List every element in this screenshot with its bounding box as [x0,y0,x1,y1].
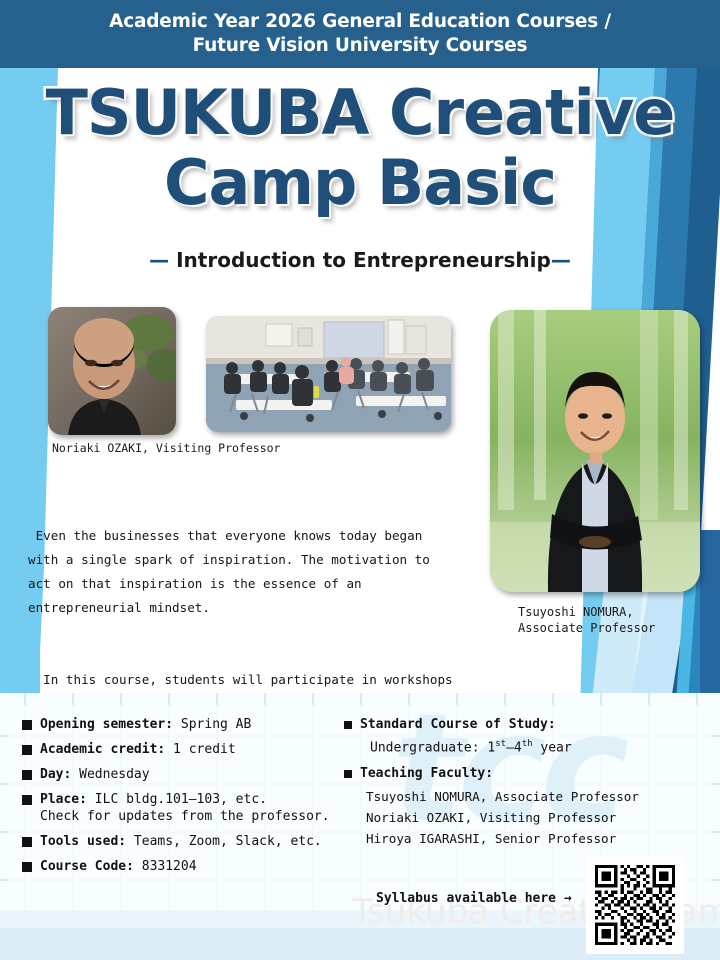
faculty-member: Noriaki OZAKI, Visiting Professor [366,807,694,828]
square-bullet-icon [22,770,32,780]
detail-text: Opening semester: Spring AB [40,716,251,733]
classroom-workshop-image [206,316,451,432]
detail-value: Teams, Zoom, Slack, etc. [126,834,322,849]
detail-text: Place: ILC bldg.101–103, etc. Check for … [40,791,330,825]
header-banner: Academic Year 2026 General Education Cou… [0,0,720,68]
square-bullet-icon [22,795,32,805]
poster-root: Academic Year 2026 General Education Cou… [0,0,720,960]
square-bullet-icon [344,721,352,729]
subtitle-dash-left: — [149,248,176,272]
faculty-member: Tsuyoshi NOMURA, Associate Professor [366,786,694,807]
detail-text: Course Code: 8331204 [40,858,197,875]
details-left-column: Opening semester: Spring AB Academic cre… [22,716,352,883]
portrait-ozaki-image [48,307,176,435]
caption-ozaki: Noriaki OZAKI, Visiting Professor [52,441,280,456]
title-line-2: Camp Basic [0,148,720,218]
detail-tools-used: Tools used: Teams, Zoom, Slack, etc. [22,833,352,850]
fan-stripe-6 [700,530,720,695]
detail-label: Opening semester: [40,717,173,732]
square-bullet-icon [22,720,32,730]
photo-nomura [490,310,700,592]
photo-classroom [206,316,451,432]
detail-label: Academic credit: [40,742,165,757]
detail-value: 1 credit [165,742,235,757]
caption-nomura: Tsuyoshi NOMURA, Associate Professor [518,604,655,636]
square-bullet-icon [22,745,32,755]
details-right-column: Standard Course of Study: Undergraduate:… [344,716,694,849]
square-bullet-icon [22,837,32,847]
detail-label: Day: [40,767,71,782]
detail-standard-course-of-study: Standard Course of Study: [344,716,694,733]
qr-code-image [595,865,675,945]
ordinal-th: th [522,739,533,749]
detail-label: Course Code: [40,859,134,874]
title-line-1: TSUKUBA Creative [0,78,720,148]
detail-text: Teaching Faculty: [360,765,493,782]
detail-text: Tools used: Teams, Zoom, Slack, etc. [40,833,322,850]
detail-course-code: Course Code: 8331204 [22,858,352,875]
undergraduate-prefix: Undergraduate: 1 [370,740,495,755]
faculty-member: Hiroya IGARASHI, Senior Professor [366,828,694,849]
poster-subtitle: — Introduction to Entrepreneurship— [0,248,720,272]
square-bullet-icon [344,770,352,778]
detail-text: Academic credit: 1 credit [40,741,236,758]
detail-value: 8331204 [134,859,197,874]
detail-text: Standard Course of Study: [360,716,556,733]
detail-place: Place: ILC bldg.101–103, etc. Check for … [22,791,352,825]
syllabus-link-label[interactable]: Syllabus available here → [376,891,572,906]
range-mid: –4 [506,740,522,755]
subtitle-text: Introduction to Entrepreneurship [176,248,551,272]
detail-label: Place: [40,792,87,807]
subtitle-dash-right: — [551,248,571,272]
photo-ozaki [48,307,176,435]
detail-value: Wednesday [71,767,149,782]
year-suffix: year [533,740,572,755]
square-bullet-icon [22,862,32,872]
detail-academic-credit: Academic credit: 1 credit [22,741,352,758]
detail-text: Day: Wednesday [40,766,150,783]
detail-teaching-faculty: Teaching Faculty: [344,765,694,782]
qr-code[interactable] [592,862,678,948]
detail-label: Teaching Faculty: [360,766,493,781]
ordinal-st: st [495,739,506,749]
header-line-2: Future Vision University Courses [193,34,528,58]
header-line-1: Academic Year 2026 General Education Cou… [109,10,611,34]
detail-standard-course-value: Undergraduate: 1st–4th year [370,735,694,757]
detail-label: Standard Course of Study: [360,717,556,732]
poster-title: TSUKUBA Creative Camp Basic [0,78,720,218]
detail-day: Day: Wednesday [22,766,352,783]
intro-paragraph-1: Even the businesses that everyone knows … [28,524,496,620]
detail-opening-semester: Opening semester: Spring AB [22,716,352,733]
detail-label: Tools used: [40,834,126,849]
detail-value: Spring AB [173,717,251,732]
portrait-nomura-image [490,310,700,592]
